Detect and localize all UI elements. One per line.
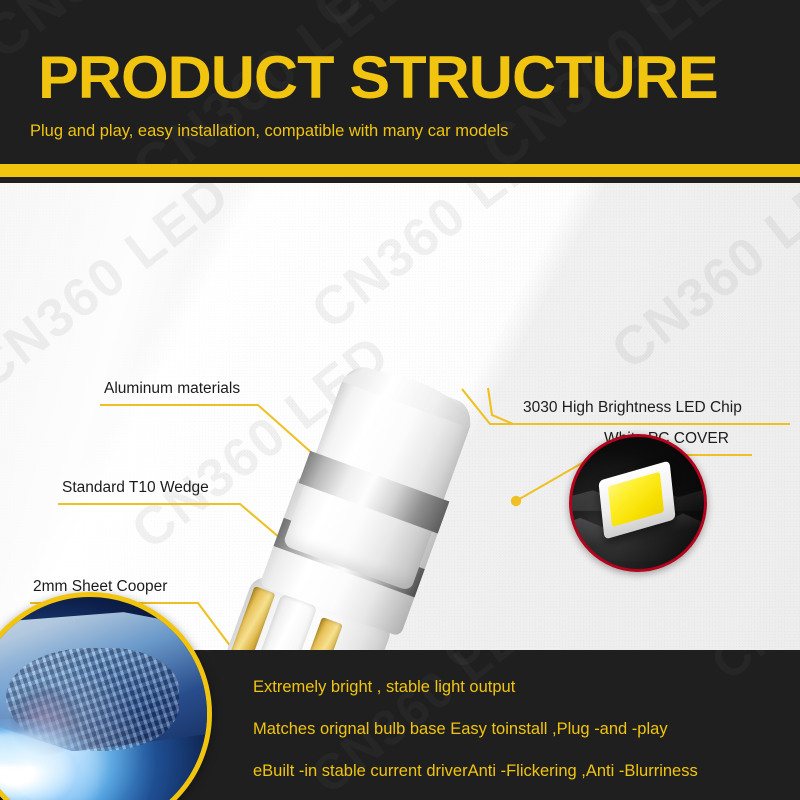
led-chip-icon <box>569 434 707 572</box>
watermark-text: CN360 LED <box>700 650 800 692</box>
callout-label-aluminum-materials: Aluminum materials <box>104 380 240 398</box>
header-banner: CN360 LED CN360 LED CN360 LED CN360 LED … <box>0 0 800 164</box>
car-headlight-icon <box>0 592 212 800</box>
product-structure-infographic: CN360 LED CN360 LED CN360 LED CN360 LED … <box>0 0 800 800</box>
watermark-text: CN360 LED <box>300 0 602 43</box>
feature-item: Extremely bright , stable light output <box>253 678 515 697</box>
feature-item: Matches orignal bulb base Easy toinstall… <box>253 720 668 739</box>
phosphor-surface <box>608 472 664 527</box>
headlight-beam <box>0 733 71 766</box>
watermark-text: CN360 LED <box>620 0 800 33</box>
watermark-text: CN360 LED <box>430 650 692 682</box>
feature-item: eBuilt -in stable current driverAnti -Fl… <box>253 762 698 781</box>
callout-label-standard-t10-wedge: Standard T10 Wedge <box>62 479 209 497</box>
accent-divider-bar <box>0 164 800 177</box>
diagram-panel: CN360 LED CN360 LED CN360 LED CN360 LED <box>0 183 800 650</box>
page-title: PRODUCT STRUCTURE <box>38 48 718 108</box>
page-subtitle: Plug and play, easy installation, compat… <box>30 122 508 141</box>
callout-label-led-chip: 3030 High Brightness LED Chip <box>523 399 742 417</box>
